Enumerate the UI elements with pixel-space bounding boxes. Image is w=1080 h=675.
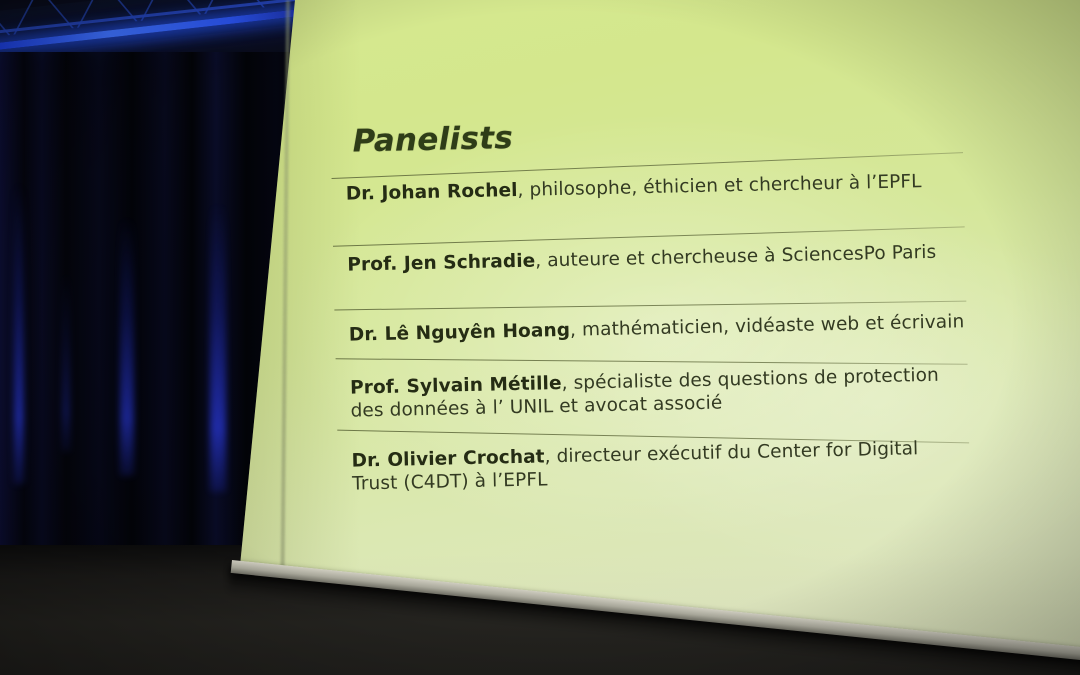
curtain-light-streak [120,216,134,476]
photograph-of-conference-stage: Panelists Dr. Johan Rochel, philosophe, … [0,0,1080,675]
panelist-separator-rule [334,301,966,311]
panelist-row: Dr. Olivier Crochat, directeur exécutif … [337,429,969,443]
panelist-separator-rule [336,358,968,365]
panelist-name: Dr. Lê Nguyên Hoang [349,320,571,346]
panelist-name: Dr. Olivier Crochat [351,446,544,471]
panelist-description: , auteure et chercheuse à SciencesPo Par… [535,242,936,272]
panelist-entry: Dr. Olivier Crochat, directeur exécutif … [351,436,968,495]
curtain-light-streak [62,272,70,452]
panelist-entry: Prof. Sylvain Métille, spécialiste des q… [350,363,967,422]
panelist-row: Prof. Sylvain Métille, spécialiste des q… [336,354,968,368]
panelist-name: Prof. Jen Schradie [347,251,535,276]
panelist-entry: Dr. Lê Nguyên Hoang, mathématicien, vidé… [349,310,965,346]
panelist-entry: Prof. Jen Schradie, auteure et chercheus… [347,240,963,276]
panelist-name: Prof. Sylvain Métille [350,373,562,399]
curtain-light-streak [14,184,24,484]
curtain-light-streak [210,202,226,492]
panelist-description: , mathématicien, vidéaste web et écrivai… [570,311,965,341]
panelist-name: Dr. Johan Rochel [346,180,518,205]
panelist-description: , philosophe, éthicien et chercheur à l’… [517,171,921,201]
panelist-row: Prof. Jen Schradie, auteure et chercheus… [333,229,965,243]
slide-content: Panelists Dr. Johan Rochel, philosophe, … [330,96,989,530]
panelist-row: Dr. Johan Rochel, philosophe, éthicien e… [331,158,963,172]
slide-title: Panelists [352,120,513,159]
panelist-row: Dr. Lê Nguyên Hoang, mathématicien, vidé… [334,298,966,312]
